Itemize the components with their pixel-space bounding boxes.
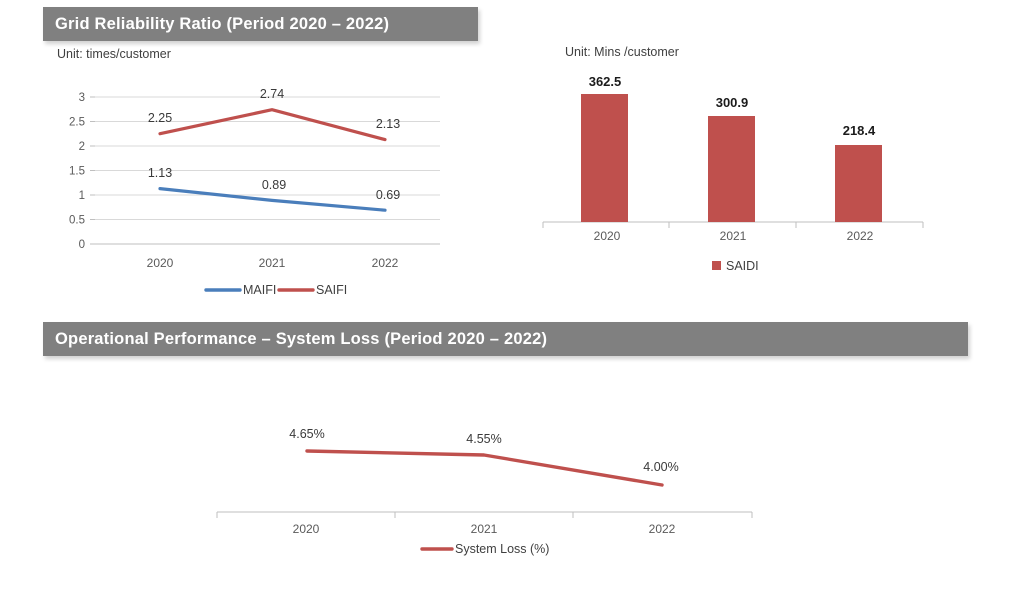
data-label-system-loss-2022: 4.00% bbox=[643, 460, 678, 474]
x-axis-label-2021: 2021 bbox=[471, 522, 498, 536]
legend-label-system-loss: System Loss (%) bbox=[455, 542, 549, 556]
legend-system-loss: System Loss (%) bbox=[422, 542, 549, 556]
series-line-system-loss bbox=[307, 451, 662, 485]
x-axis-label-2020: 2020 bbox=[293, 522, 320, 536]
data-label-system-loss-2021: 4.55% bbox=[466, 432, 501, 446]
data-label-system-loss-2020: 4.65% bbox=[289, 427, 324, 441]
chart-system-loss: 4.65% 4.55% 4.00% 2020 2021 2022 System … bbox=[0, 0, 1015, 597]
x-axis-label-2022: 2022 bbox=[649, 522, 676, 536]
x-axis-ticks bbox=[217, 512, 752, 518]
